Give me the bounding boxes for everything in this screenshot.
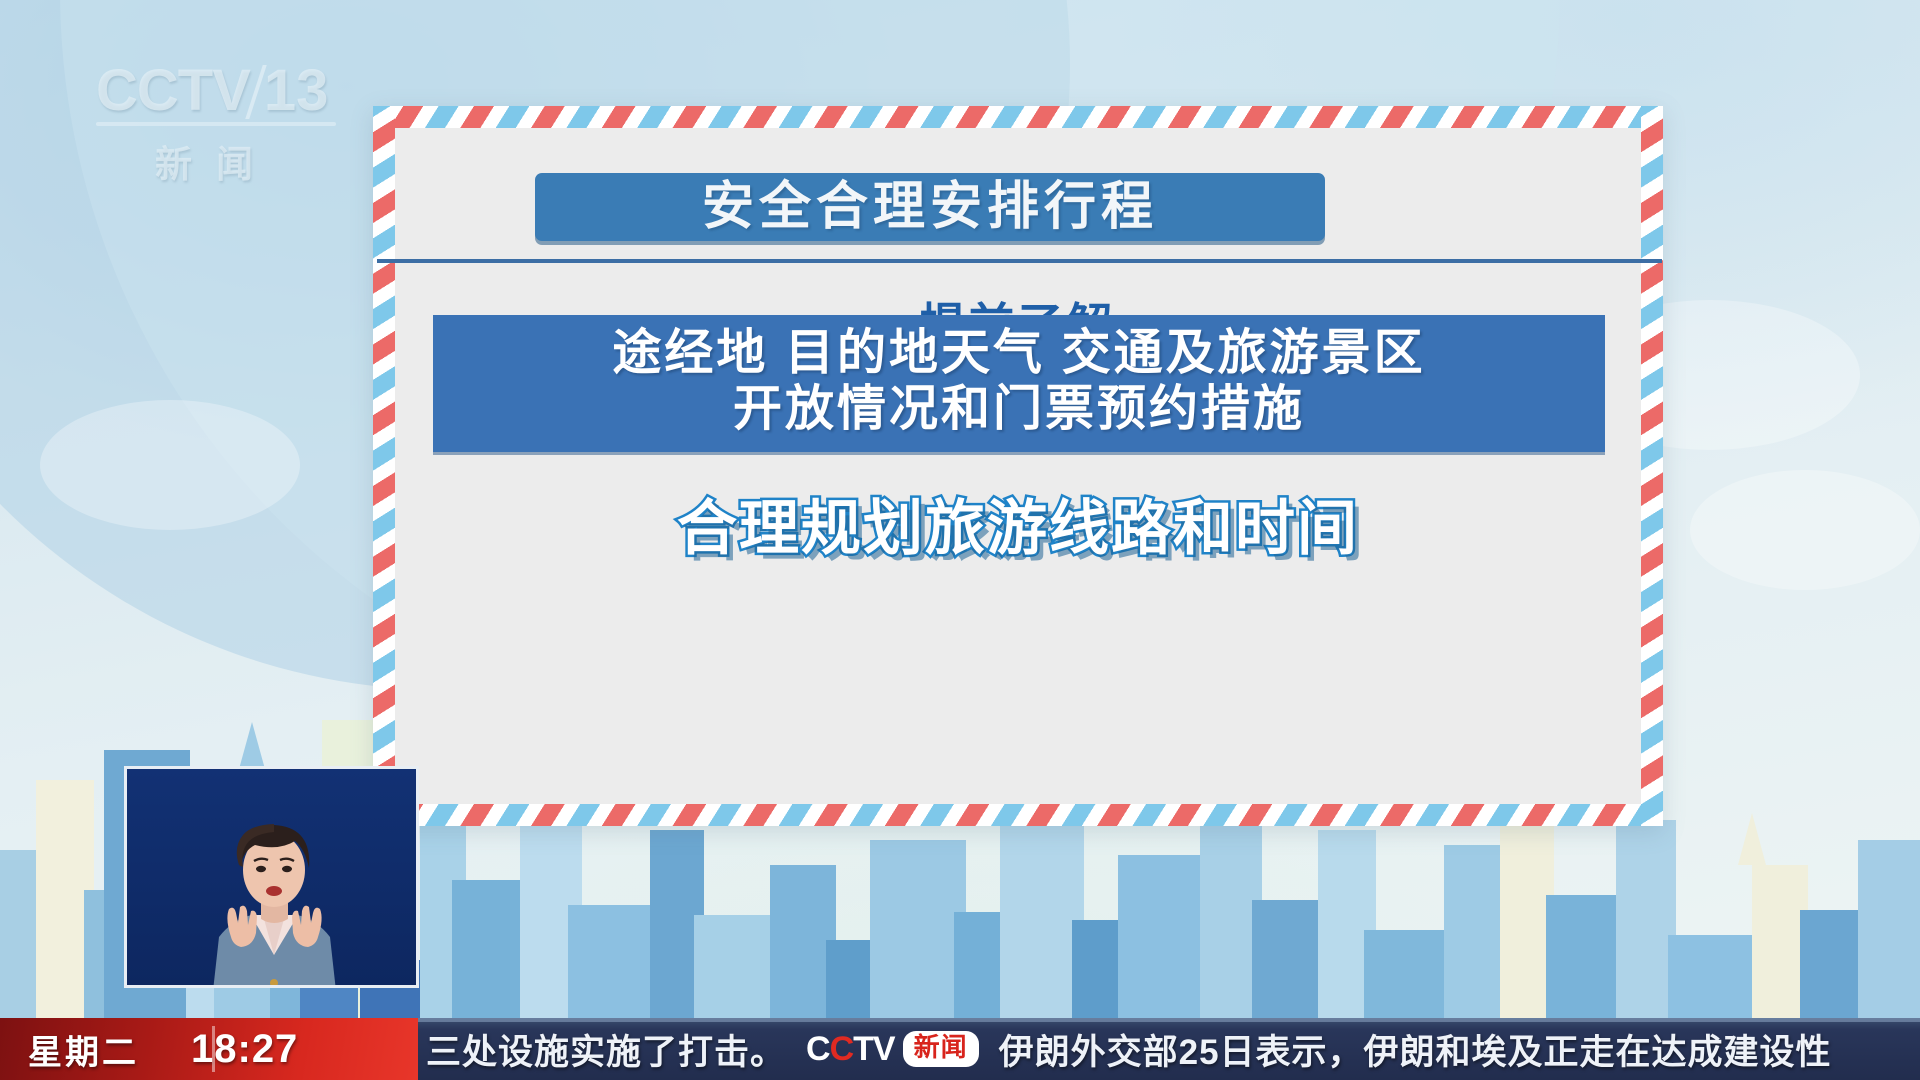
cctv-news-badge: CCTV 新闻 [806, 1030, 979, 1069]
highlight-block: 途经地 目的地天气 交通及旅游景区 开放情况和门票预约措施 [433, 315, 1605, 452]
cctv-news-badge-word: CCTV [806, 1030, 895, 1069]
card-title: 安全合理安排行程 [702, 181, 1158, 233]
envelope-stripe-left [373, 106, 395, 826]
sign-language-window [124, 766, 419, 988]
envelope-stripe-top [373, 106, 1663, 128]
cloud-blob [40, 400, 300, 530]
bottom-ticker-bar: 星期二 18:27 三处设施实施了打击。 CCTV 新闻 伊朗外交部25日表示，… [0, 1018, 1920, 1080]
cctv-logo-number: 13 [264, 58, 329, 123]
highlight-line-1: 途经地 目的地天气 交通及旅游景区 [433, 325, 1605, 381]
sign-language-presenter-figure [127, 769, 419, 988]
envelope-stripe-right [1641, 106, 1663, 826]
cctv-logo-subtitle: 新闻 [96, 134, 336, 188]
envelope-stripe-bottom [373, 804, 1663, 826]
ticker-weekday: 星期二 [28, 1025, 139, 1074]
cctv-logo-word: CCTV [96, 58, 250, 123]
ticker-divider [212, 1026, 215, 1072]
ticker-news-scroller: 三处设施实施了打击。 CCTV 新闻 伊朗外交部25日表示，伊朗和埃及正走在达成… [418, 1018, 1920, 1080]
cctv-news-badge-label: 新闻 [903, 1031, 979, 1067]
ticker-news-text-after: 伊朗外交部25日表示，伊朗和埃及正走在达成建设性 [999, 1024, 1832, 1075]
highlight-line-2: 开放情况和门票预约措施 [433, 381, 1605, 437]
broadcast-screen: CCTV13 新闻 安全合理安排行程 提前了解 途经地 目的地天气 交通及旅游景… [0, 0, 1920, 1080]
airmail-envelope-card: 安全合理安排行程 提前了解 途经地 目的地天气 交通及旅游景区 开放情况和门票预… [373, 106, 1663, 826]
title-divider-rule [377, 259, 1662, 263]
card-footer-text: 合理规划旅游线路和时间 [395, 480, 1641, 567]
ticker-news-text-before: 三处设施实施了打击。 [426, 1024, 786, 1075]
ticker-clock: 18:27 [191, 1027, 298, 1072]
cloud-blob [1690, 470, 1920, 590]
ticker-datetime-block: 星期二 18:27 [0, 1018, 418, 1080]
cctv-channel-logo: CCTV13 新闻 [96, 62, 336, 172]
envelope-inner-panel: 安全合理安排行程 提前了解 途经地 目的地天气 交通及旅游景区 开放情况和门票预… [395, 128, 1641, 804]
card-title-banner: 安全合理安排行程 [535, 173, 1325, 241]
